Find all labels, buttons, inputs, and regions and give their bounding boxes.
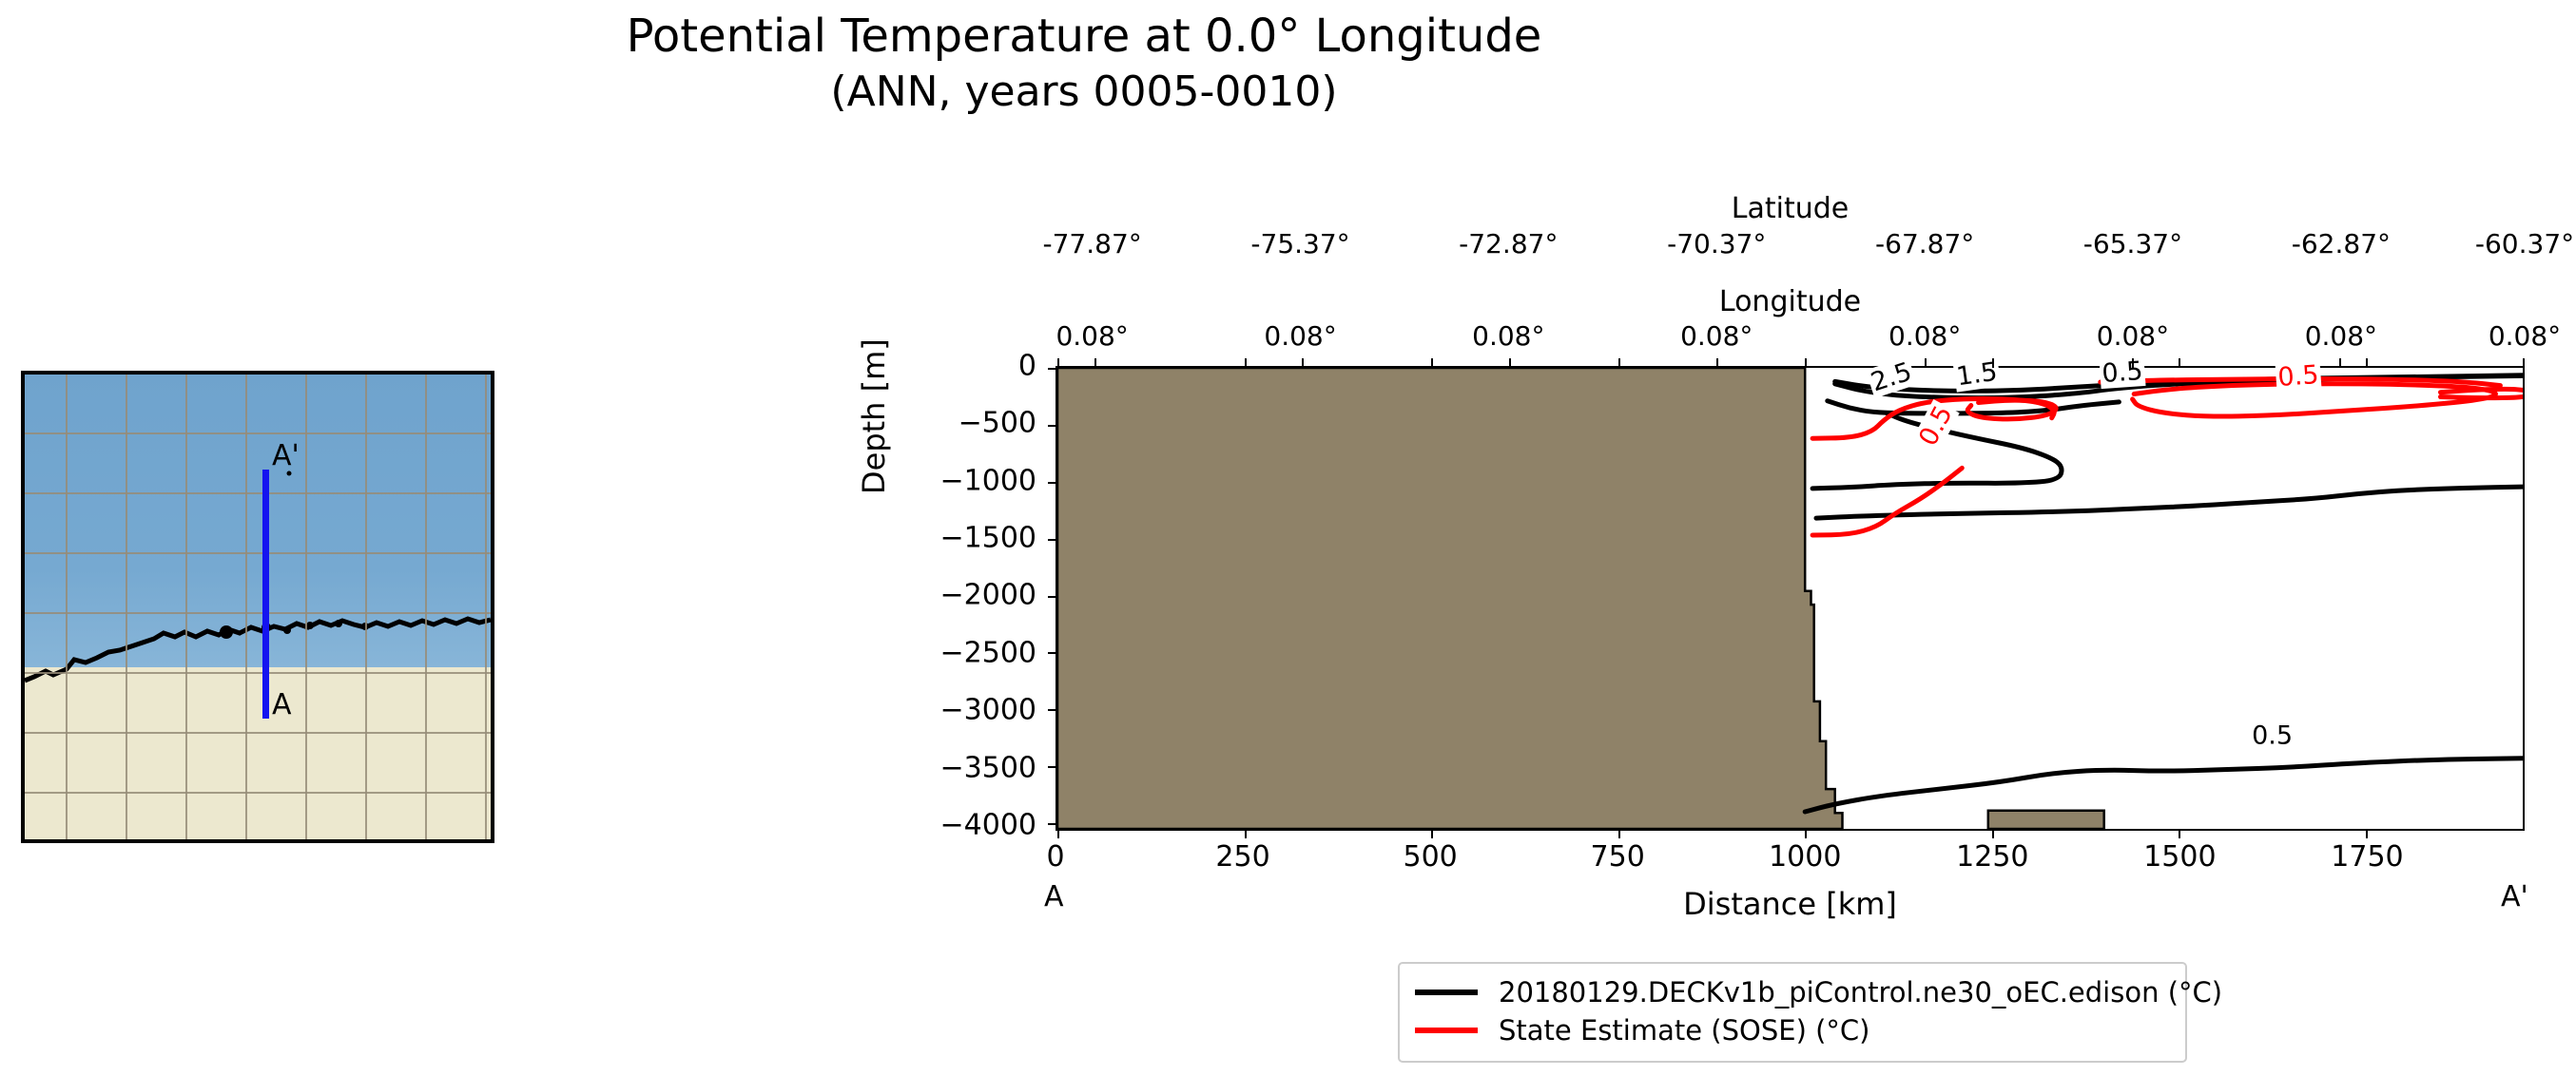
axis-tick-mark [2366, 358, 2368, 368]
longitude-axis-title: Longitude [1056, 285, 2525, 318]
map-endpoint-label-a-prime: A' [272, 439, 300, 472]
contour-line [1812, 468, 1962, 535]
axis-tick-mark [1048, 482, 1057, 484]
longitude-tick-label: 0.08° [1264, 320, 1336, 352]
axis-tick-mark [2179, 829, 2180, 838]
y-axis-tick-label: −3500 [940, 751, 1036, 784]
y-axis-tick-label: −500 [959, 407, 1036, 440]
x-axis-tick-label: 1500 [2143, 840, 2216, 874]
contour-line [2441, 397, 2524, 398]
latitude-tick-label: -65.37° [2083, 228, 2182, 259]
cross-section-plot[interactable]: 2.51.50.50.50.50.5 [1056, 366, 2525, 831]
y-axis-tick-label: 0 [1018, 350, 1036, 383]
axis-tick-mark [1302, 358, 1304, 368]
bathymetry-seamount [1988, 811, 2104, 829]
x-axis-tick-label: 500 [1403, 840, 1457, 874]
transect-location-map[interactable]: A' A [21, 371, 494, 843]
axis-tick-mark [1431, 358, 1433, 368]
longitude-tick-label: 0.08° [2097, 320, 2169, 352]
contour-line [1828, 401, 2120, 413]
longitude-tick-label: 0.08° [1472, 320, 1544, 352]
axis-tick-mark [1048, 766, 1057, 768]
y-axis-tick-labels: 0−500−1000−1500−2000−2500−3000−3500−4000 [894, 0, 1036, 1076]
x-axis-tick-label: 1750 [2331, 840, 2403, 874]
axis-tick-mark [1805, 358, 1807, 368]
y-axis-tick-label: −4000 [940, 808, 1036, 841]
x-axis-tick-label: 0 [1046, 840, 1064, 874]
contour-lines-group [1805, 375, 2523, 812]
axis-tick-mark [2339, 358, 2341, 368]
longitude-tick-label: 0.08° [1056, 320, 1128, 352]
page-subtitle: (ANN, years 0005-0010) [0, 65, 2168, 120]
legend-item[interactable]: State Estimate (SOSE) (°C) [1415, 1011, 2170, 1049]
axis-tick-mark [1048, 596, 1057, 598]
map-endpoint-label-a: A [272, 688, 292, 721]
latitude-tick-label: -62.87° [2292, 228, 2391, 259]
latitude-tick-label: -72.87° [1459, 228, 1558, 259]
x-axis-endpoint-a-prime: A' [2501, 880, 2528, 913]
axis-tick-mark [1057, 358, 1059, 368]
y-axis-tick-label: −2000 [940, 579, 1036, 612]
latitude-axis-title: Latitude [1056, 192, 2525, 225]
legend-line-swatch-model [1415, 990, 1478, 995]
axis-tick-mark [1805, 829, 1807, 838]
x-axis-endpoint-a: A [1044, 880, 1064, 913]
legend: 20180129.DECKv1b_piControl.ne30_oEC.edis… [1398, 962, 2187, 1063]
latitude-tick-label: -77.87° [1042, 228, 1141, 259]
axis-tick-mark [1509, 358, 1511, 368]
y-axis-title: Depth [m] [856, 338, 892, 494]
axis-tick-mark [1057, 829, 1059, 838]
contour-line [2441, 389, 2524, 392]
figure-title-block: Potential Temperature at 0.0° Longitude … [0, 8, 2168, 120]
legend-item[interactable]: 20180129.DECKv1b_piControl.ne30_oEC.edis… [1415, 973, 2170, 1011]
longitude-tick-label: 0.08° [2489, 320, 2561, 352]
axis-tick-mark [1992, 358, 1994, 368]
axis-tick-mark [2366, 829, 2368, 838]
latitude-tick-label: -60.37° [2475, 228, 2574, 259]
y-axis-tick-label: −1000 [940, 464, 1036, 497]
axis-tick-mark [1431, 829, 1433, 838]
axis-tick-mark [1094, 358, 1096, 368]
latitude-tick-label: -70.37° [1667, 228, 1766, 259]
legend-line-swatch-observation [1415, 1028, 1478, 1033]
x-axis-tick-label: 1000 [1769, 840, 1841, 874]
legend-label-model: 20180129.DECKv1b_piControl.ne30_oEC.edis… [1499, 976, 2222, 1009]
axis-tick-mark [1048, 652, 1057, 654]
contour-line [1805, 759, 2523, 812]
x-axis-tick-label: 750 [1591, 840, 1645, 874]
axis-tick-mark [1245, 829, 1247, 838]
axis-tick-mark [1618, 358, 1620, 368]
axis-tick-mark [1048, 709, 1057, 711]
axis-tick-mark [1925, 358, 1927, 368]
longitude-tick-label: 0.08° [1888, 320, 1961, 352]
y-axis-tick-label: −3000 [940, 694, 1036, 727]
axis-tick-mark [1048, 539, 1057, 541]
axis-tick-mark [2132, 358, 2134, 368]
axis-tick-mark [1618, 829, 1620, 838]
axis-tick-mark [1245, 358, 1247, 368]
bathymetry-shelf [1057, 368, 1843, 829]
bathymetry-group [1057, 368, 2104, 829]
contour-line [1812, 413, 2062, 489]
contour-canvas [1057, 368, 2523, 829]
axis-tick-mark [1048, 823, 1057, 825]
longitude-tick-label: 0.08° [2305, 320, 2377, 352]
map-gridlines [25, 375, 491, 839]
x-axis-tick-label: 250 [1215, 840, 1269, 874]
contour-line [1816, 487, 2523, 518]
page-title: Potential Temperature at 0.0° Longitude [0, 8, 2168, 65]
axis-tick-mark [1048, 425, 1057, 427]
axis-tick-mark [1048, 368, 1057, 370]
y-axis-tick-label: −2500 [940, 636, 1036, 669]
figure-root: Potential Temperature at 0.0° Longitude … [0, 0, 2576, 1076]
y-axis-tick-label: −1500 [940, 522, 1036, 555]
longitude-tick-label: 0.08° [1680, 320, 1753, 352]
x-axis-tick-label: 1250 [1956, 840, 2028, 874]
axis-tick-mark [1716, 358, 1718, 368]
contour-line [2133, 384, 2496, 416]
latitude-tick-label: -67.87° [1875, 228, 1974, 259]
axis-tick-mark [1992, 829, 1994, 838]
legend-label-observation: State Estimate (SOSE) (°C) [1499, 1014, 1869, 1047]
axis-tick-mark [2179, 358, 2180, 368]
latitude-tick-label: -75.37° [1250, 228, 1349, 259]
x-axis-title: Distance [km] [1056, 886, 2525, 922]
map-transect-line[interactable] [262, 470, 269, 719]
axis-tick-mark [2523, 358, 2525, 368]
